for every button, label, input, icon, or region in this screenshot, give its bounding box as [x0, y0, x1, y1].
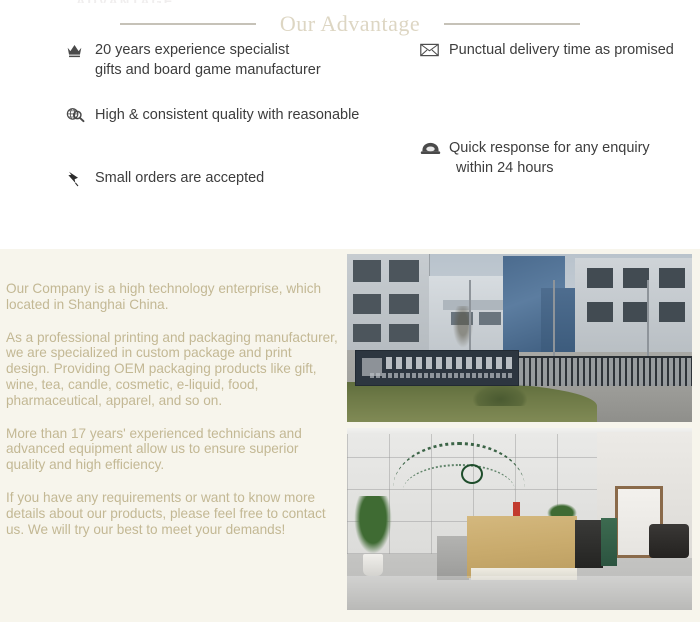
- cut-off-advantage-heading: ADVANTAGE: [76, 0, 174, 3]
- advantage-item-quality: High & consistent quality with reasonabl…: [66, 105, 396, 125]
- lobby-floor-reflection: [347, 576, 692, 610]
- envelope-icon: [420, 40, 442, 60]
- lobby-wall-logo: [461, 464, 483, 484]
- advantage-item-small-orders: Small orders are accepted: [66, 168, 396, 188]
- factory-bare-tree: [451, 306, 475, 352]
- advantage-item-response: Quick response for any enquiry within 24…: [420, 138, 695, 178]
- company-paragraph-1: Our Company is a high technology enterpr…: [6, 281, 338, 313]
- factory-gate-fence: [517, 358, 692, 386]
- factory-sign-chinese-text: [386, 357, 514, 369]
- crown-icon: [66, 40, 88, 60]
- advantage-title-row: Our Advantage: [0, 11, 700, 37]
- advantage-item-delivery: Punctual delivery time as promised: [420, 40, 695, 60]
- lobby-green-cabinet: [601, 518, 617, 566]
- office-lobby-photo: [347, 428, 692, 610]
- company-paragraph-3: More than 17 years' experienced technici…: [6, 426, 338, 473]
- factory-shrub: [473, 384, 527, 406]
- advantage-item-quality-line1: High & consistent quality with reasonabl…: [95, 105, 359, 125]
- lobby-sofa: [649, 524, 689, 558]
- page-title: Our Advantage: [280, 11, 420, 37]
- company-description: Our Company is a high technology enterpr…: [6, 281, 338, 537]
- factory-company-sign: [355, 350, 519, 386]
- pushpin-icon: [66, 168, 88, 188]
- company-paragraph-2: As a professional printing and packaging…: [6, 330, 338, 409]
- advantage-left-column: 20 years experience specialist gifts and…: [66, 40, 396, 188]
- globe-search-icon: [66, 105, 88, 125]
- advantage-item-small-orders-line1: Small orders are accepted: [95, 168, 264, 188]
- advantage-right-column: Punctual delivery time as promised Quick…: [420, 40, 695, 178]
- lobby-side-cabinet: [437, 536, 469, 580]
- telephone-icon: [420, 138, 442, 158]
- factory-right-building: [575, 258, 692, 352]
- advantage-item-experience: 20 years experience specialist gifts and…: [66, 40, 396, 80]
- company-section: Our Company is a high technology enterpr…: [0, 249, 700, 622]
- company-photo-column: [347, 254, 692, 610]
- title-rule-left: [120, 23, 256, 25]
- lobby-plant-pot: [363, 554, 383, 576]
- advantage-item-experience-line2: gifts and board game manufacturer: [66, 60, 396, 80]
- advantage-item-response-line1: Quick response for any enquiry: [449, 138, 650, 158]
- advantage-item-experience-line1: 20 years experience specialist: [95, 40, 289, 60]
- advantage-item-delivery-line1: Punctual delivery time as promised: [449, 40, 674, 60]
- advantage-item-response-line2: within 24 hours: [420, 158, 695, 178]
- factory-exterior-photo: [347, 254, 692, 422]
- title-rule-right: [444, 23, 580, 25]
- factory-sign-english-text: [370, 373, 512, 378]
- lobby-black-cabinet: [575, 520, 603, 568]
- company-paragraph-4: If you have any requirements or want to …: [6, 490, 338, 537]
- factory-left-building: [347, 254, 430, 350]
- lobby-potted-plant: [351, 496, 395, 560]
- advantage-section: ADVANTAGE Our Advantage 20 years experie…: [0, 0, 700, 249]
